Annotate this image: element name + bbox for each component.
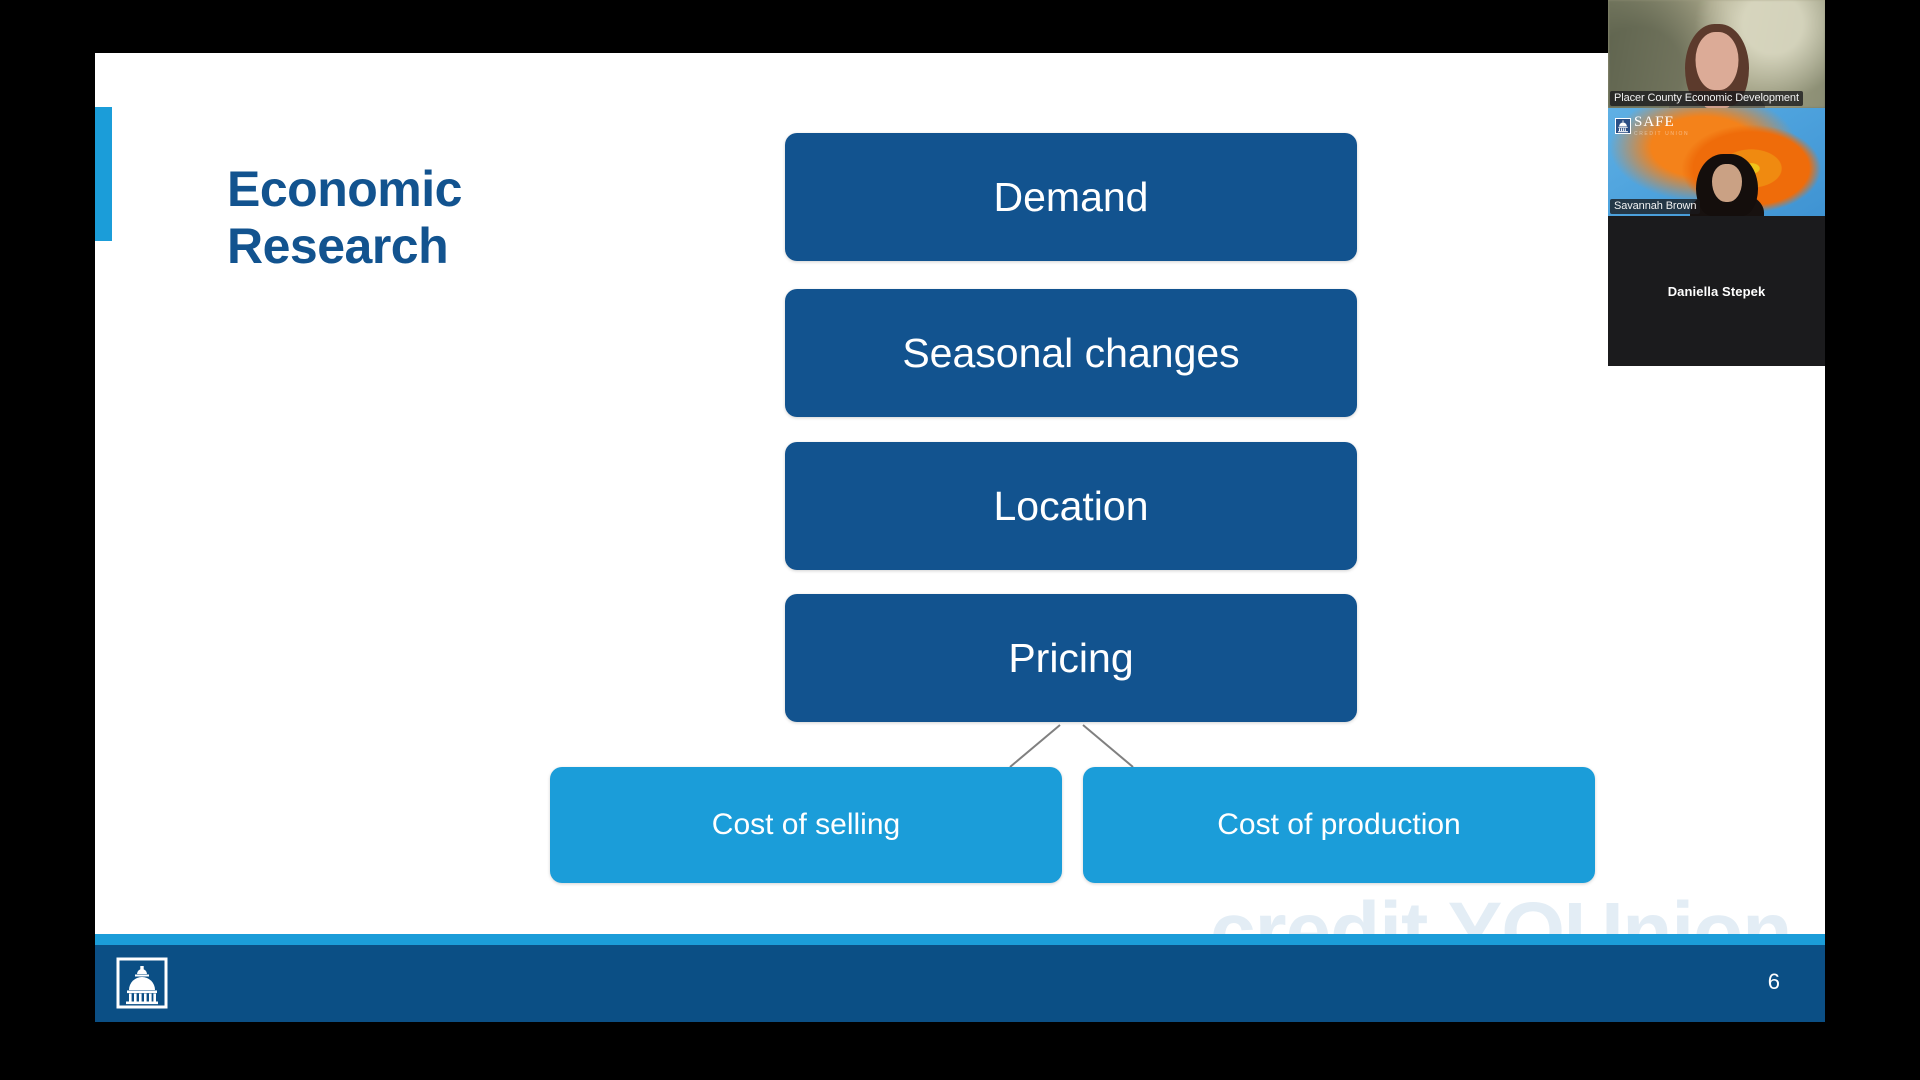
video-tile-savannah-brown[interactable]: SAFE CREDIT UNION Savannah Brown (1608, 108, 1825, 216)
safe-dome-icon (1615, 118, 1631, 134)
presentation-slide: Economic Research credit YOUnion Demand … (95, 53, 1825, 1022)
diagram-node-demand[interactable]: Demand (785, 133, 1357, 261)
diagram-node-cost-of-selling[interactable]: Cost of selling (550, 767, 1062, 883)
video-participant-panel[interactable]: Placer County Economic Development (1608, 0, 1825, 366)
safe-logo-icon: SAFE CREDIT UNION (1615, 115, 1689, 137)
economic-research-diagram: Demand Seasonal changes Location Pricing… (95, 53, 1825, 1022)
screen-root: Economic Research credit YOUnion Demand … (0, 0, 1920, 1080)
safe-sub-wordmark: CREDIT UNION (1634, 131, 1689, 137)
diagram-node-location[interactable]: Location (785, 442, 1357, 570)
participant-name-label: Savannah Brown (1610, 199, 1700, 214)
avatar-face (1695, 32, 1738, 90)
participant-name-label: Placer County Economic Development (1610, 91, 1803, 106)
diagram-node-pricing[interactable]: Pricing (785, 594, 1357, 722)
video-tile-placer-county[interactable]: Placer County Economic Development (1608, 0, 1825, 108)
safe-wordmark: SAFE (1634, 115, 1689, 130)
diagram-node-seasonal-changes[interactable]: Seasonal changes (785, 289, 1357, 417)
capitol-dome-logo-icon (116, 957, 168, 1009)
participant-name-label: Daniella Stepek (1668, 284, 1766, 299)
slide-footer: 6 (95, 945, 1825, 1022)
footer-accent-strip (95, 934, 1825, 945)
page-number: 6 (1768, 969, 1780, 995)
avatar-face (1712, 164, 1742, 202)
diagram-node-cost-of-production[interactable]: Cost of production (1083, 767, 1595, 883)
audio-tile-daniella-stepek[interactable]: Daniella Stepek (1608, 216, 1825, 366)
